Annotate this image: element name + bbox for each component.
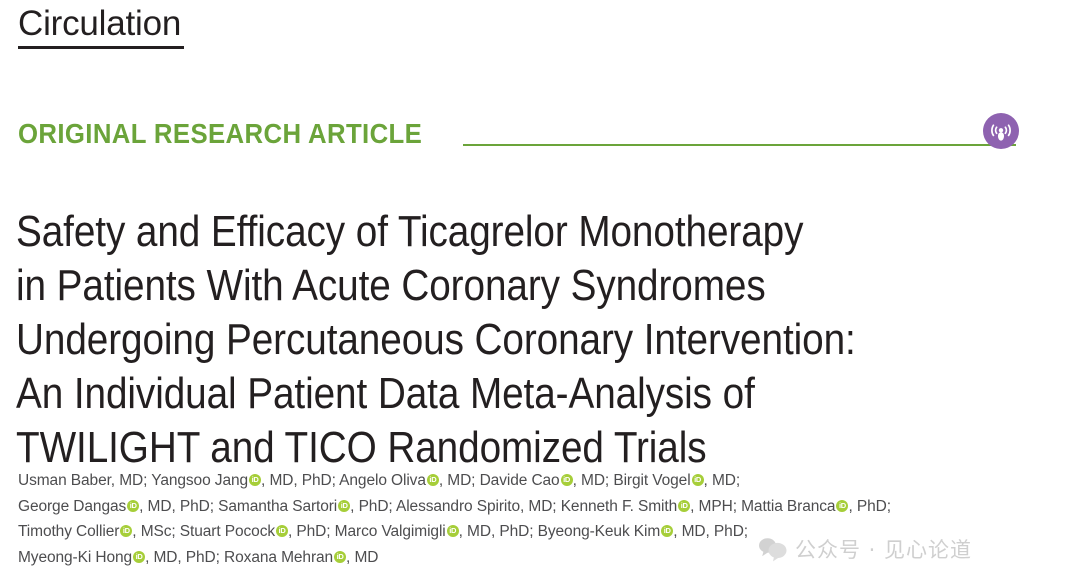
orcid-icon[interactable] <box>836 500 848 512</box>
author-name-text: , MSc; Stuart Pocock <box>132 523 275 540</box>
author-name-text: , MPH; Mattia Branca <box>690 498 835 515</box>
orcid-icon[interactable] <box>661 525 673 537</box>
orcid-icon[interactable] <box>692 474 704 486</box>
podcast-icon[interactable] <box>983 113 1019 149</box>
author-name-text: , MD, PhD; Samantha Sartori <box>139 498 337 515</box>
title-line: An Individual Patient Data Meta-Analysis… <box>16 367 896 421</box>
author-name-text: Timothy Collier <box>18 523 119 540</box>
author-name-text: , MD, PhD; <box>673 523 748 540</box>
author-line: Timothy Collier, MSc; Stuart Pocock, PhD… <box>18 519 1058 545</box>
author-name-text: , MD, PhD; Roxana Mehran <box>145 549 333 566</box>
author-name-text: George Dangas <box>18 498 126 515</box>
banner-divider <box>463 144 1016 146</box>
author-name-text: , MD <box>346 549 378 566</box>
author-name-text: , MD; Davide Cao <box>439 472 560 489</box>
orcid-icon[interactable] <box>447 525 459 537</box>
journal-name: Circulation <box>18 4 181 44</box>
author-name-text: , MD, PhD; Byeong-Keuk Kim <box>459 523 661 540</box>
orcid-icon[interactable] <box>276 525 288 537</box>
orcid-icon[interactable] <box>427 474 439 486</box>
author-name-text: , PhD; Alessandro Spirito, MD; Kenneth F… <box>350 498 677 515</box>
article-type-label: ORIGINAL RESEARCH ARTICLE <box>18 119 422 150</box>
orcid-icon[interactable] <box>338 500 350 512</box>
author-line: George Dangas, MD, PhD; Samantha Sartori… <box>18 494 1058 520</box>
author-name-text: , PhD; <box>848 498 890 515</box>
orcid-icon[interactable] <box>561 474 573 486</box>
title-line: in Patients With Acute Coronary Syndrome… <box>16 259 896 313</box>
article-type-banner: ORIGINAL RESEARCH ARTICLE <box>18 112 1062 154</box>
author-name-text: , MD; <box>704 472 741 489</box>
masthead-divider <box>18 46 184 49</box>
author-name-text: , MD; Birgit Vogel <box>573 472 691 489</box>
orcid-icon[interactable] <box>249 474 261 486</box>
author-name-text: Usman Baber, MD; Yangsoo Jang <box>18 472 248 489</box>
page-title: Safety and Efficacy of Ticagrelor Monoth… <box>16 205 1016 475</box>
title-line: Undergoing Percutaneous Coronary Interve… <box>16 313 896 367</box>
orcid-icon[interactable] <box>127 500 139 512</box>
orcid-icon[interactable] <box>678 500 690 512</box>
orcid-icon[interactable] <box>133 551 145 563</box>
author-line: Myeong-Ki Hong, MD, PhD; Roxana Mehran, … <box>18 545 1058 571</box>
author-name-text: , MD, PhD; Angelo Oliva <box>261 472 426 489</box>
title-line: Safety and Efficacy of Ticagrelor Monoth… <box>16 205 896 259</box>
orcid-icon[interactable] <box>334 551 346 563</box>
author-name-text: , PhD; Marco Valgimigli <box>288 523 446 540</box>
author-name-text: Myeong-Ki Hong <box>18 549 132 566</box>
author-list: Usman Baber, MD; Yangsoo Jang, MD, PhD; … <box>18 468 1058 570</box>
banner-row: ORIGINAL RESEARCH ARTICLE <box>18 112 1062 150</box>
orcid-icon[interactable] <box>120 525 132 537</box>
author-line: Usman Baber, MD; Yangsoo Jang, MD, PhD; … <box>18 468 1058 494</box>
journal-masthead: Circulation <box>18 4 538 49</box>
